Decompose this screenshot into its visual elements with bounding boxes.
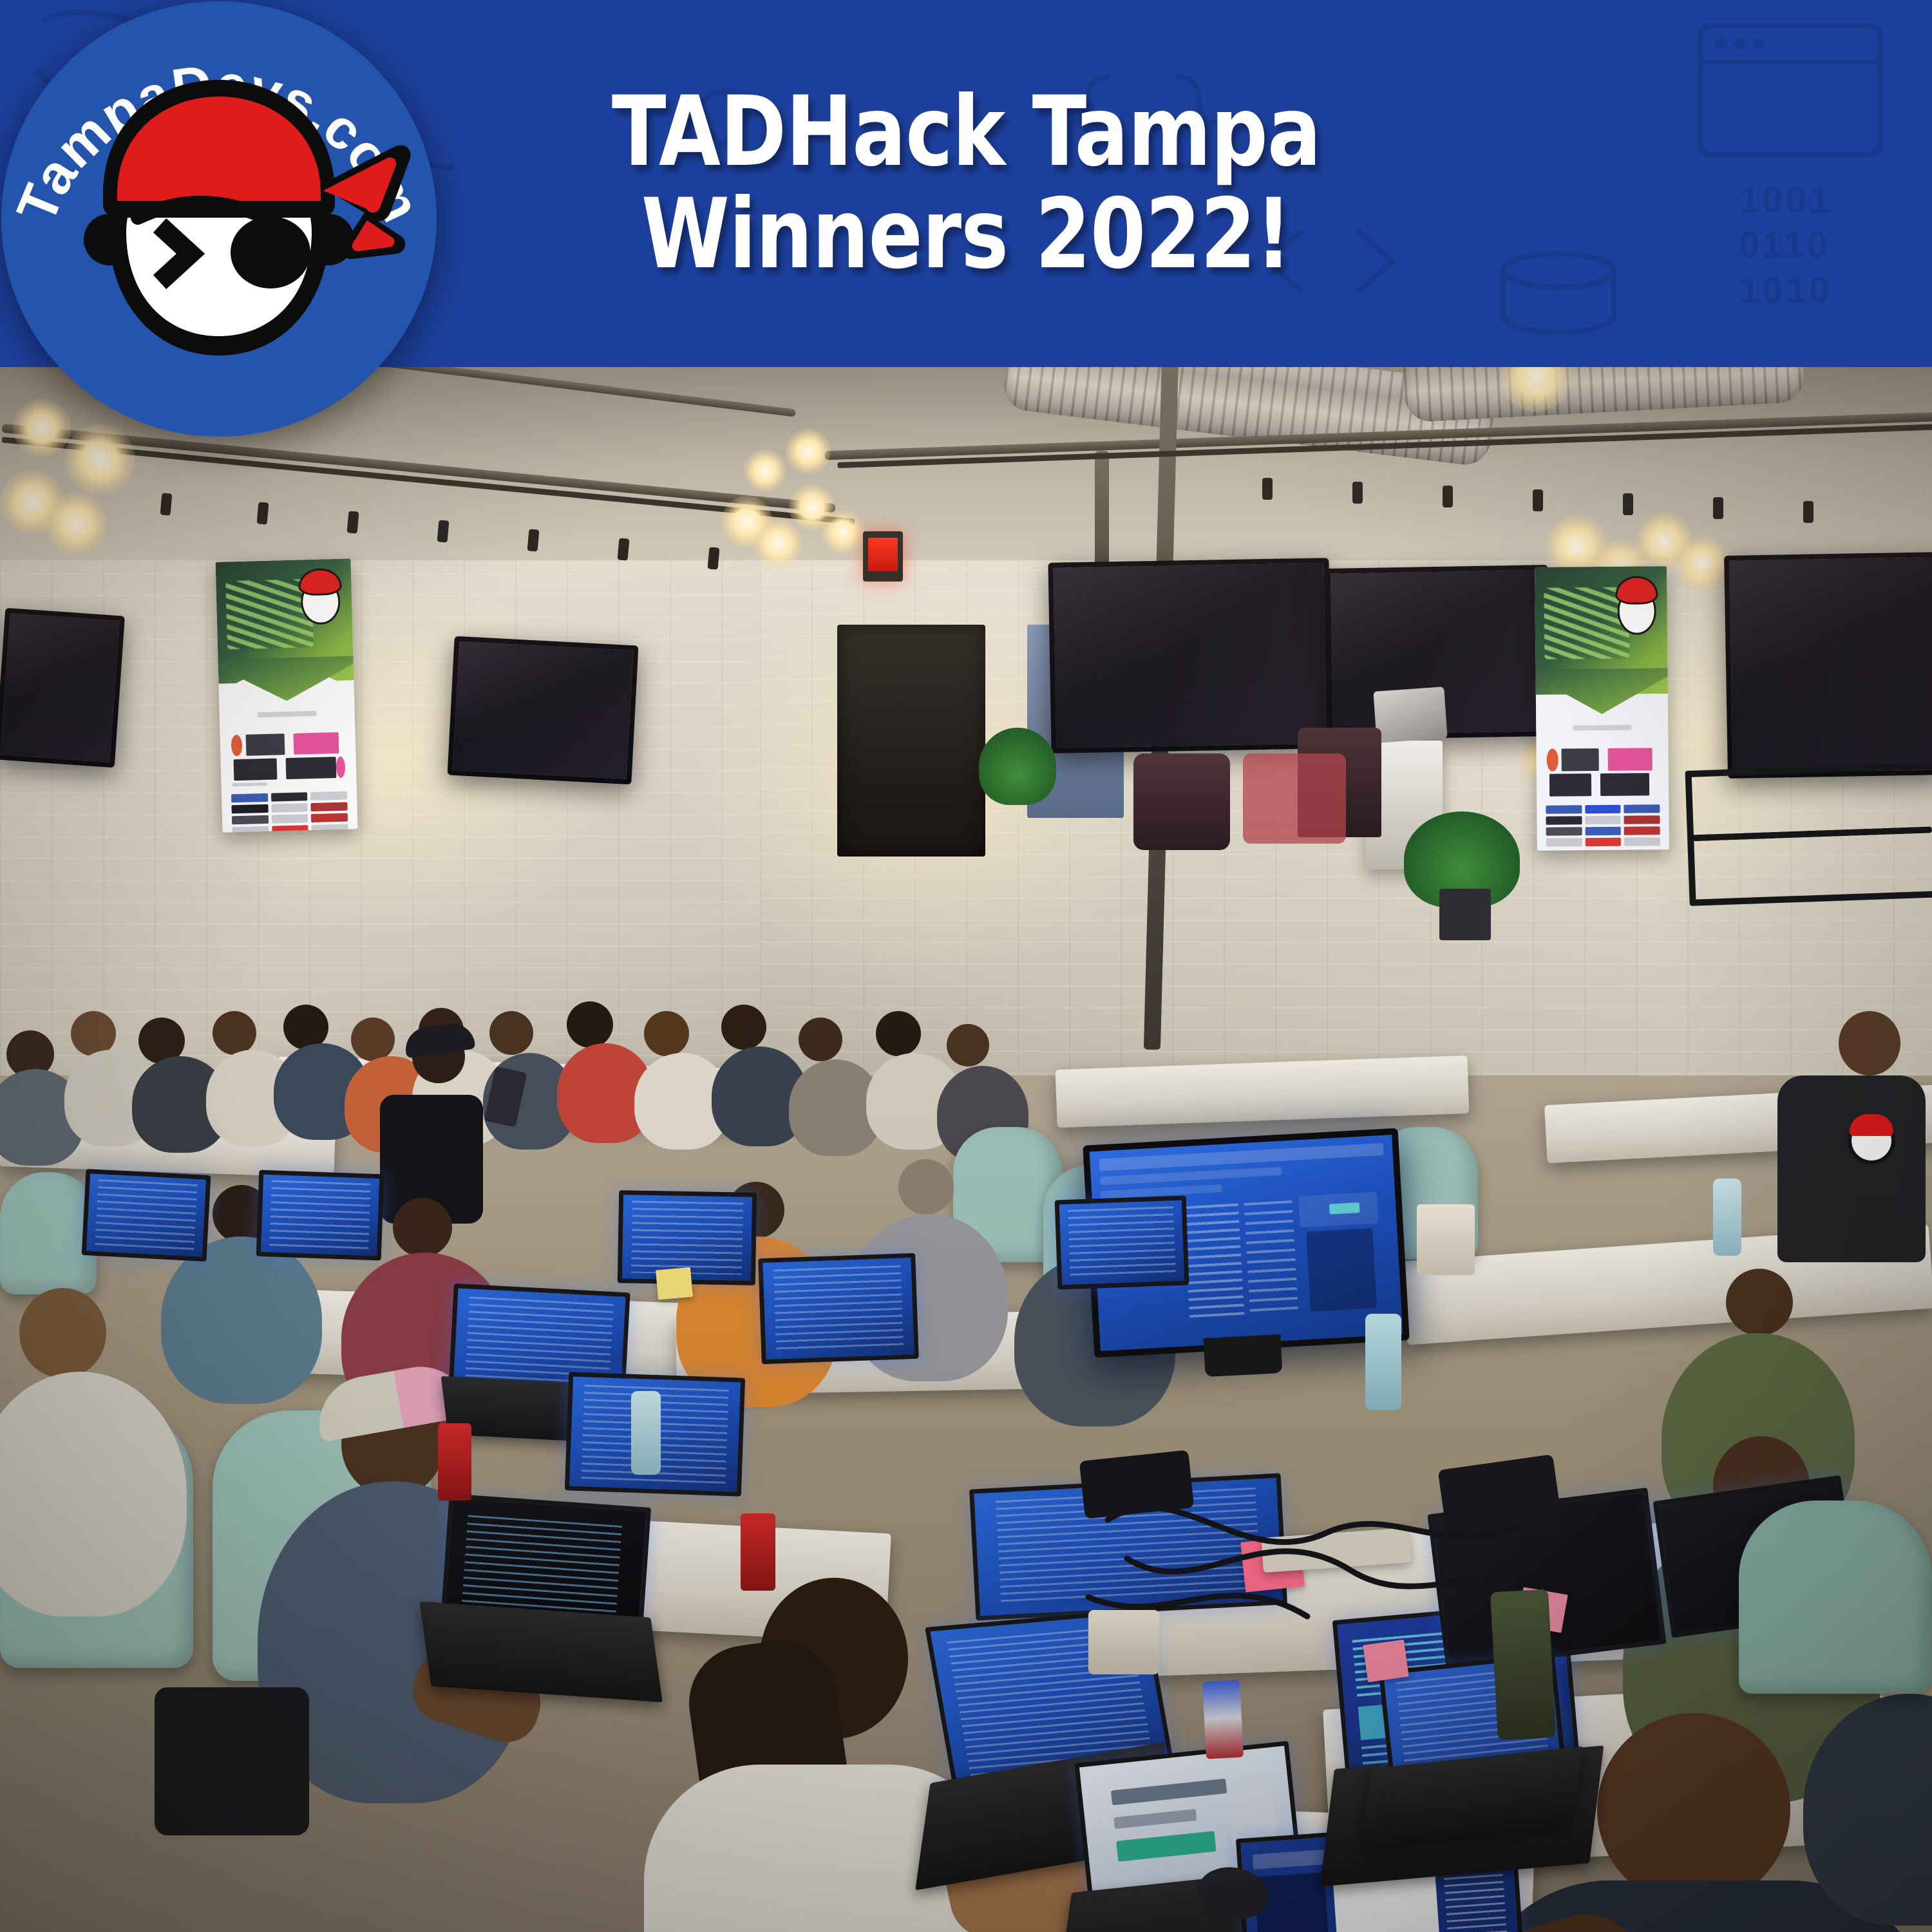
track-lamp: [1443, 486, 1453, 507]
person-head: [351, 1018, 395, 1061]
hackathon-photo: [0, 367, 1932, 1932]
laptop-screen-mid-2: [758, 1253, 919, 1364]
soda-can: [438, 1423, 471, 1501]
water-bottle-clear: [1365, 1314, 1401, 1410]
water-bottle-clear-2: [631, 1391, 661, 1475]
coffee-cup-2: [1417, 1204, 1475, 1275]
laptop-screen-back-2: [1055, 1195, 1189, 1289]
wall-tv-center: [1048, 558, 1332, 753]
track-lamp: [1533, 489, 1543, 511]
person-head: [19, 1288, 106, 1378]
person-head: [721, 1005, 766, 1050]
pendant-bulb: [821, 510, 865, 554]
backpack-front: [155, 1687, 309, 1835]
person-head: [1839, 1011, 1900, 1075]
red-chair: [1243, 753, 1346, 844]
sticky-note-yellow: [656, 1267, 693, 1300]
soda-can-2: [741, 1513, 775, 1591]
wall-tv-right: [1724, 552, 1932, 779]
track-lamp: [1623, 493, 1633, 515]
track-lamp: [618, 538, 630, 560]
track-lamp: [347, 511, 359, 533]
cable-bundle: [1030, 1436, 1610, 1707]
person-head: [876, 1011, 921, 1056]
pendant-bulb: [753, 519, 802, 568]
pendant-bulb: [45, 493, 107, 554]
track-lamp: [708, 547, 720, 569]
wall-tv-2: [448, 636, 639, 785]
page-title-line-1: TADHack Tampa: [612, 83, 1321, 182]
person-head-grey: [898, 1159, 954, 1215]
pendant-bulb: [786, 429, 831, 474]
tadhack-banner-left: [216, 558, 358, 832]
track-lamp: [1803, 501, 1814, 523]
potted-plant-2: [979, 728, 1056, 805]
armchair-2: [1133, 753, 1230, 850]
laptop-screen-back-4: [82, 1169, 211, 1262]
tampadevs-logo[interactable]: TampaDevs.com: [0, 0, 438, 438]
doorway: [837, 625, 985, 857]
track-lamp: [437, 520, 450, 542]
planter: [1439, 889, 1491, 940]
person-head: [644, 1011, 689, 1056]
track-lamp: [1262, 478, 1273, 500]
person-head: [393, 1198, 452, 1257]
pendant-bulb: [744, 450, 786, 492]
poster-root: SQL 1001 0110 1010 TADHack Tampa Winners…: [0, 0, 1932, 1932]
person-tampadevs-shirt: [1777, 1075, 1926, 1262]
track-lamp: [257, 502, 269, 524]
person-head: [799, 1018, 842, 1061]
track-lamp: [1352, 482, 1363, 504]
person-head-bald: [1597, 1713, 1790, 1906]
person-head: [947, 1024, 989, 1066]
podium-laptop: [1373, 687, 1447, 743]
eye-patch: [231, 216, 310, 289]
chair-right: [1739, 1501, 1932, 1694]
track-lamp: [160, 493, 173, 515]
person-head: [213, 1011, 256, 1055]
page-title-line-2: Winners 2022!: [641, 185, 1291, 284]
monitor-stand: [1204, 1334, 1283, 1377]
person-torso: [161, 1236, 322, 1404]
track-lamp: [527, 529, 540, 551]
person-head: [1726, 1269, 1793, 1336]
laptop-screen-back-3: [256, 1170, 384, 1261]
person-head: [489, 1011, 533, 1055]
wall-tv-left: [0, 608, 125, 768]
tadhack-banner-right: [1535, 566, 1669, 851]
water-bottle-clear-3: [1713, 1179, 1741, 1256]
track-lamp: [1713, 497, 1723, 519]
exit-sign: [863, 531, 903, 582]
laptop-keyboard-front-left: [419, 1602, 663, 1703]
person-head: [567, 1001, 613, 1048]
